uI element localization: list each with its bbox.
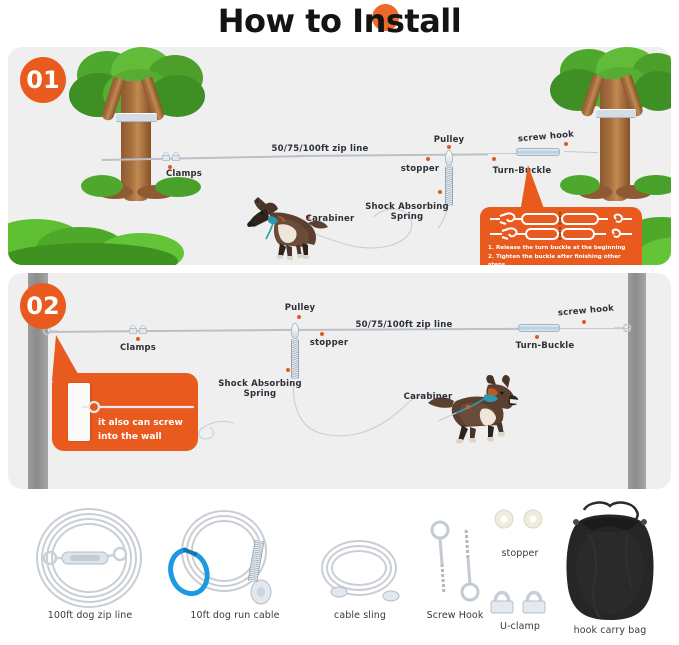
label-pulley: Pulley	[434, 135, 465, 145]
callout-line-1: 1. Release the turn buckle at the beginn…	[488, 244, 634, 253]
step-badge-02: 02	[20, 283, 66, 329]
label-pulley: Pulley	[285, 303, 316, 313]
label-clamps: Clamps	[120, 343, 156, 353]
dog-illustration	[426, 373, 521, 455]
page-title: How to Install	[0, 0, 679, 42]
products-row: 100ft dog zip line 10ft dog run cable	[0, 495, 679, 645]
callout-line-2: 2. Tighten the buckle after finishing ot…	[488, 253, 634, 265]
pulley-marker	[297, 315, 301, 319]
stopper-marker	[320, 332, 324, 336]
spring-marker	[286, 368, 290, 372]
stopper-marker	[426, 157, 430, 161]
product-run-cable: 10ft dog run cable	[155, 500, 315, 621]
product-label: hook carry bag	[548, 625, 672, 636]
carry-bag-image	[548, 500, 672, 625]
dog-illustration	[240, 195, 330, 265]
turnbuckle-marker	[535, 335, 539, 339]
turnbuckle-instruction-callout: 1. Release the turn buckle at the beginn…	[480, 207, 642, 265]
label-zip-line: 50/75/100ft zip line	[272, 144, 369, 154]
wall-mount-callout: it also can screw into the wall	[52, 373, 198, 451]
turnbuckle-closed-diagram	[488, 227, 634, 241]
label-stopper: stopper	[401, 164, 440, 174]
product-label: 100ft dog zip line	[10, 610, 170, 621]
label-carabiner: Carabiner	[404, 392, 453, 402]
label-shock-spring: Shock AbsorbingSpring	[216, 379, 304, 400]
install-step-02-panel: Clamps Pulley stopper Shock AbsorbingSpr…	[8, 273, 671, 489]
stopper-icon	[491, 506, 549, 532]
cable-thimble-icon	[245, 578, 277, 608]
label-stopper: stopper	[310, 338, 349, 348]
u-clamp-icon	[487, 575, 553, 621]
label-zip-line: 50/75/100ft zip line	[356, 320, 453, 330]
carabiner-marker	[466, 405, 470, 409]
clamps-marker	[136, 337, 140, 341]
zip-line-image	[10, 500, 170, 610]
screw-hook-marker	[582, 320, 586, 324]
label-shock-spring: Shock AbsorbingSpring	[363, 202, 451, 223]
callout-line-2: into the wall	[98, 431, 162, 443]
run-cable-image	[155, 500, 315, 610]
product-label: 10ft dog run cable	[155, 610, 315, 621]
wall-screw-hook-icon	[82, 399, 197, 415]
spring-marker	[438, 190, 442, 194]
product-zip-line: 100ft dog zip line	[10, 500, 170, 621]
label-clamps: Clamps	[166, 169, 202, 179]
drawstring-bag-icon	[548, 500, 672, 625]
screw-hook-marker	[564, 142, 568, 146]
callout-line-1: it also can screw	[98, 417, 183, 429]
turnbuckle-open-diagram	[488, 212, 634, 226]
page-title-text: How to Install	[218, 2, 461, 40]
carabiner-icon	[163, 544, 223, 606]
product-carry-bag: hook carry bag	[548, 500, 672, 636]
step-badge-01: 01	[20, 57, 66, 103]
pulley-marker	[447, 145, 451, 149]
label-carabiner: Carabiner	[306, 214, 355, 224]
turnbuckle-marker	[492, 157, 496, 161]
install-step-01-panel: Clamps 50/75/100ft zip line stopper Pull…	[8, 47, 671, 265]
label-turnbuckle: Turn-Buckle	[516, 341, 575, 351]
